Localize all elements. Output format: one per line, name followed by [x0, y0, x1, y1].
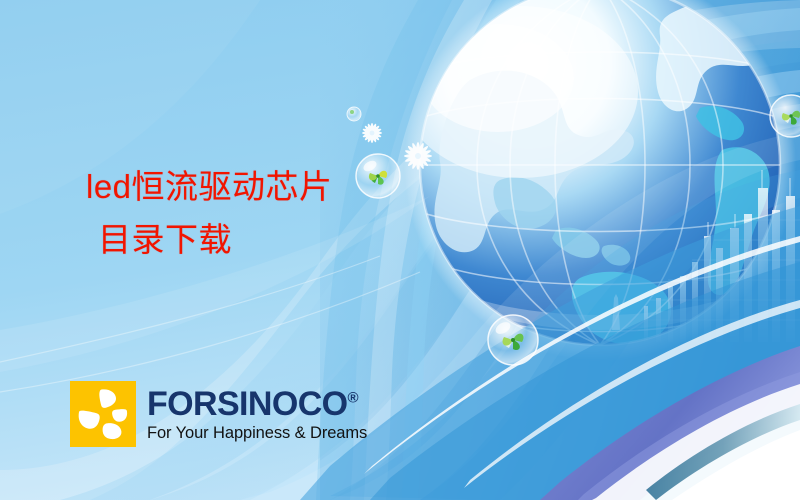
bubble-pinwheel-small [347, 107, 361, 121]
logo-wordmark: FORSINOCO® [147, 387, 367, 421]
slide-headline: led恒流驱动芯片 目录下载 [86, 160, 446, 267]
slide-canvas: led恒流驱动芯片 目录下载 FORSINOCO® [0, 0, 800, 500]
logo-mark-tile [70, 381, 136, 447]
registered-trademark-mark: ® [348, 390, 359, 407]
headline-line-1: led恒流驱动芯片 [86, 160, 446, 213]
sparkle-asterisk-1 [362, 123, 382, 143]
logo-wordmark-text: FORSINOCO [147, 385, 348, 423]
bubble-pinwheel-large [488, 315, 538, 365]
four-petal-flower-icon [70, 381, 136, 447]
logo-text-block: FORSINOCO® For Your Happiness & Dreams [147, 381, 367, 442]
headline-line-2: 目录下载 [86, 213, 446, 266]
logo-tagline: For Your Happiness & Dreams [147, 424, 367, 442]
company-logo: FORSINOCO® For Your Happiness & Dreams [70, 381, 367, 447]
